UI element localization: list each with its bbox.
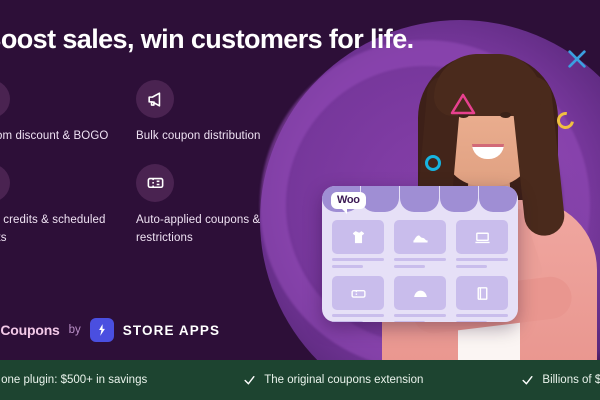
check-icon xyxy=(521,374,534,387)
ticket-icon xyxy=(332,276,384,310)
feature-list: Custom discount & BOGO Bulk coupon distr… xyxy=(0,80,282,247)
shoe-icon xyxy=(394,220,446,254)
x-mark-shape-icon xyxy=(566,48,588,70)
benefit-item: Billions of $$ in generated revenue xyxy=(521,374,600,387)
product-tile xyxy=(456,220,508,268)
company-name: STORE APPS xyxy=(123,323,220,338)
laptop-icon xyxy=(456,220,508,254)
storeapps-logo-icon xyxy=(90,318,114,342)
promo-banner: Boost sales, win customers for life. Cus… xyxy=(0,0,600,400)
feature-label: Store credits & scheduled credits xyxy=(0,212,122,248)
product-name: Smart Coupons xyxy=(0,322,60,338)
feature-item-bulk-coupon: Bulk coupon distribution xyxy=(136,80,278,146)
benefit-item: The original coupons extension xyxy=(243,374,423,387)
megaphone-icon xyxy=(136,80,174,118)
benefit-item: All in one plugin: $500+ in savings xyxy=(0,374,147,387)
ticket-coupon-icon xyxy=(136,164,174,202)
book-icon xyxy=(456,276,508,310)
product-tile xyxy=(332,220,384,268)
feature-item-store-credits: Store credits & scheduled credits xyxy=(0,164,114,248)
product-tile-grid xyxy=(332,220,508,322)
tshirt-icon xyxy=(332,220,384,254)
percent-discount-icon xyxy=(0,80,10,118)
benefit-label: Billions of $$ in generated revenue xyxy=(542,374,600,386)
product-tile xyxy=(332,276,384,322)
circle-shape-icon xyxy=(425,155,441,171)
check-icon xyxy=(243,374,256,387)
benefit-label: All in one plugin: $500+ in savings xyxy=(0,374,147,386)
feature-label: Auto-applied coupons & restrictions xyxy=(136,212,286,248)
product-tile xyxy=(394,276,446,322)
by-label: by xyxy=(69,324,81,336)
benefit-label: The original coupons extension xyxy=(264,374,423,386)
gift-card-icon xyxy=(0,164,10,202)
feature-label: Bulk coupon distribution xyxy=(136,128,286,146)
bag-icon xyxy=(394,276,446,310)
product-tile xyxy=(456,276,508,322)
feature-label: Custom discount & BOGO xyxy=(0,128,122,146)
benefits-bar: All in one plugin: $500+ in savings The … xyxy=(0,360,600,400)
page-title: Boost sales, win customers for life. xyxy=(0,24,452,55)
product-tile xyxy=(394,220,446,268)
brand-lockup: Smart Coupons by STORE APPS xyxy=(0,318,220,342)
triangle-shape-icon xyxy=(450,92,476,116)
woo-store-card: Woo xyxy=(322,186,518,322)
feature-item-auto-coupons: Auto-applied coupons & restrictions xyxy=(136,164,278,248)
feature-item-custom-discount: Custom discount & BOGO xyxy=(0,80,114,146)
woo-logo: Woo xyxy=(331,192,366,209)
